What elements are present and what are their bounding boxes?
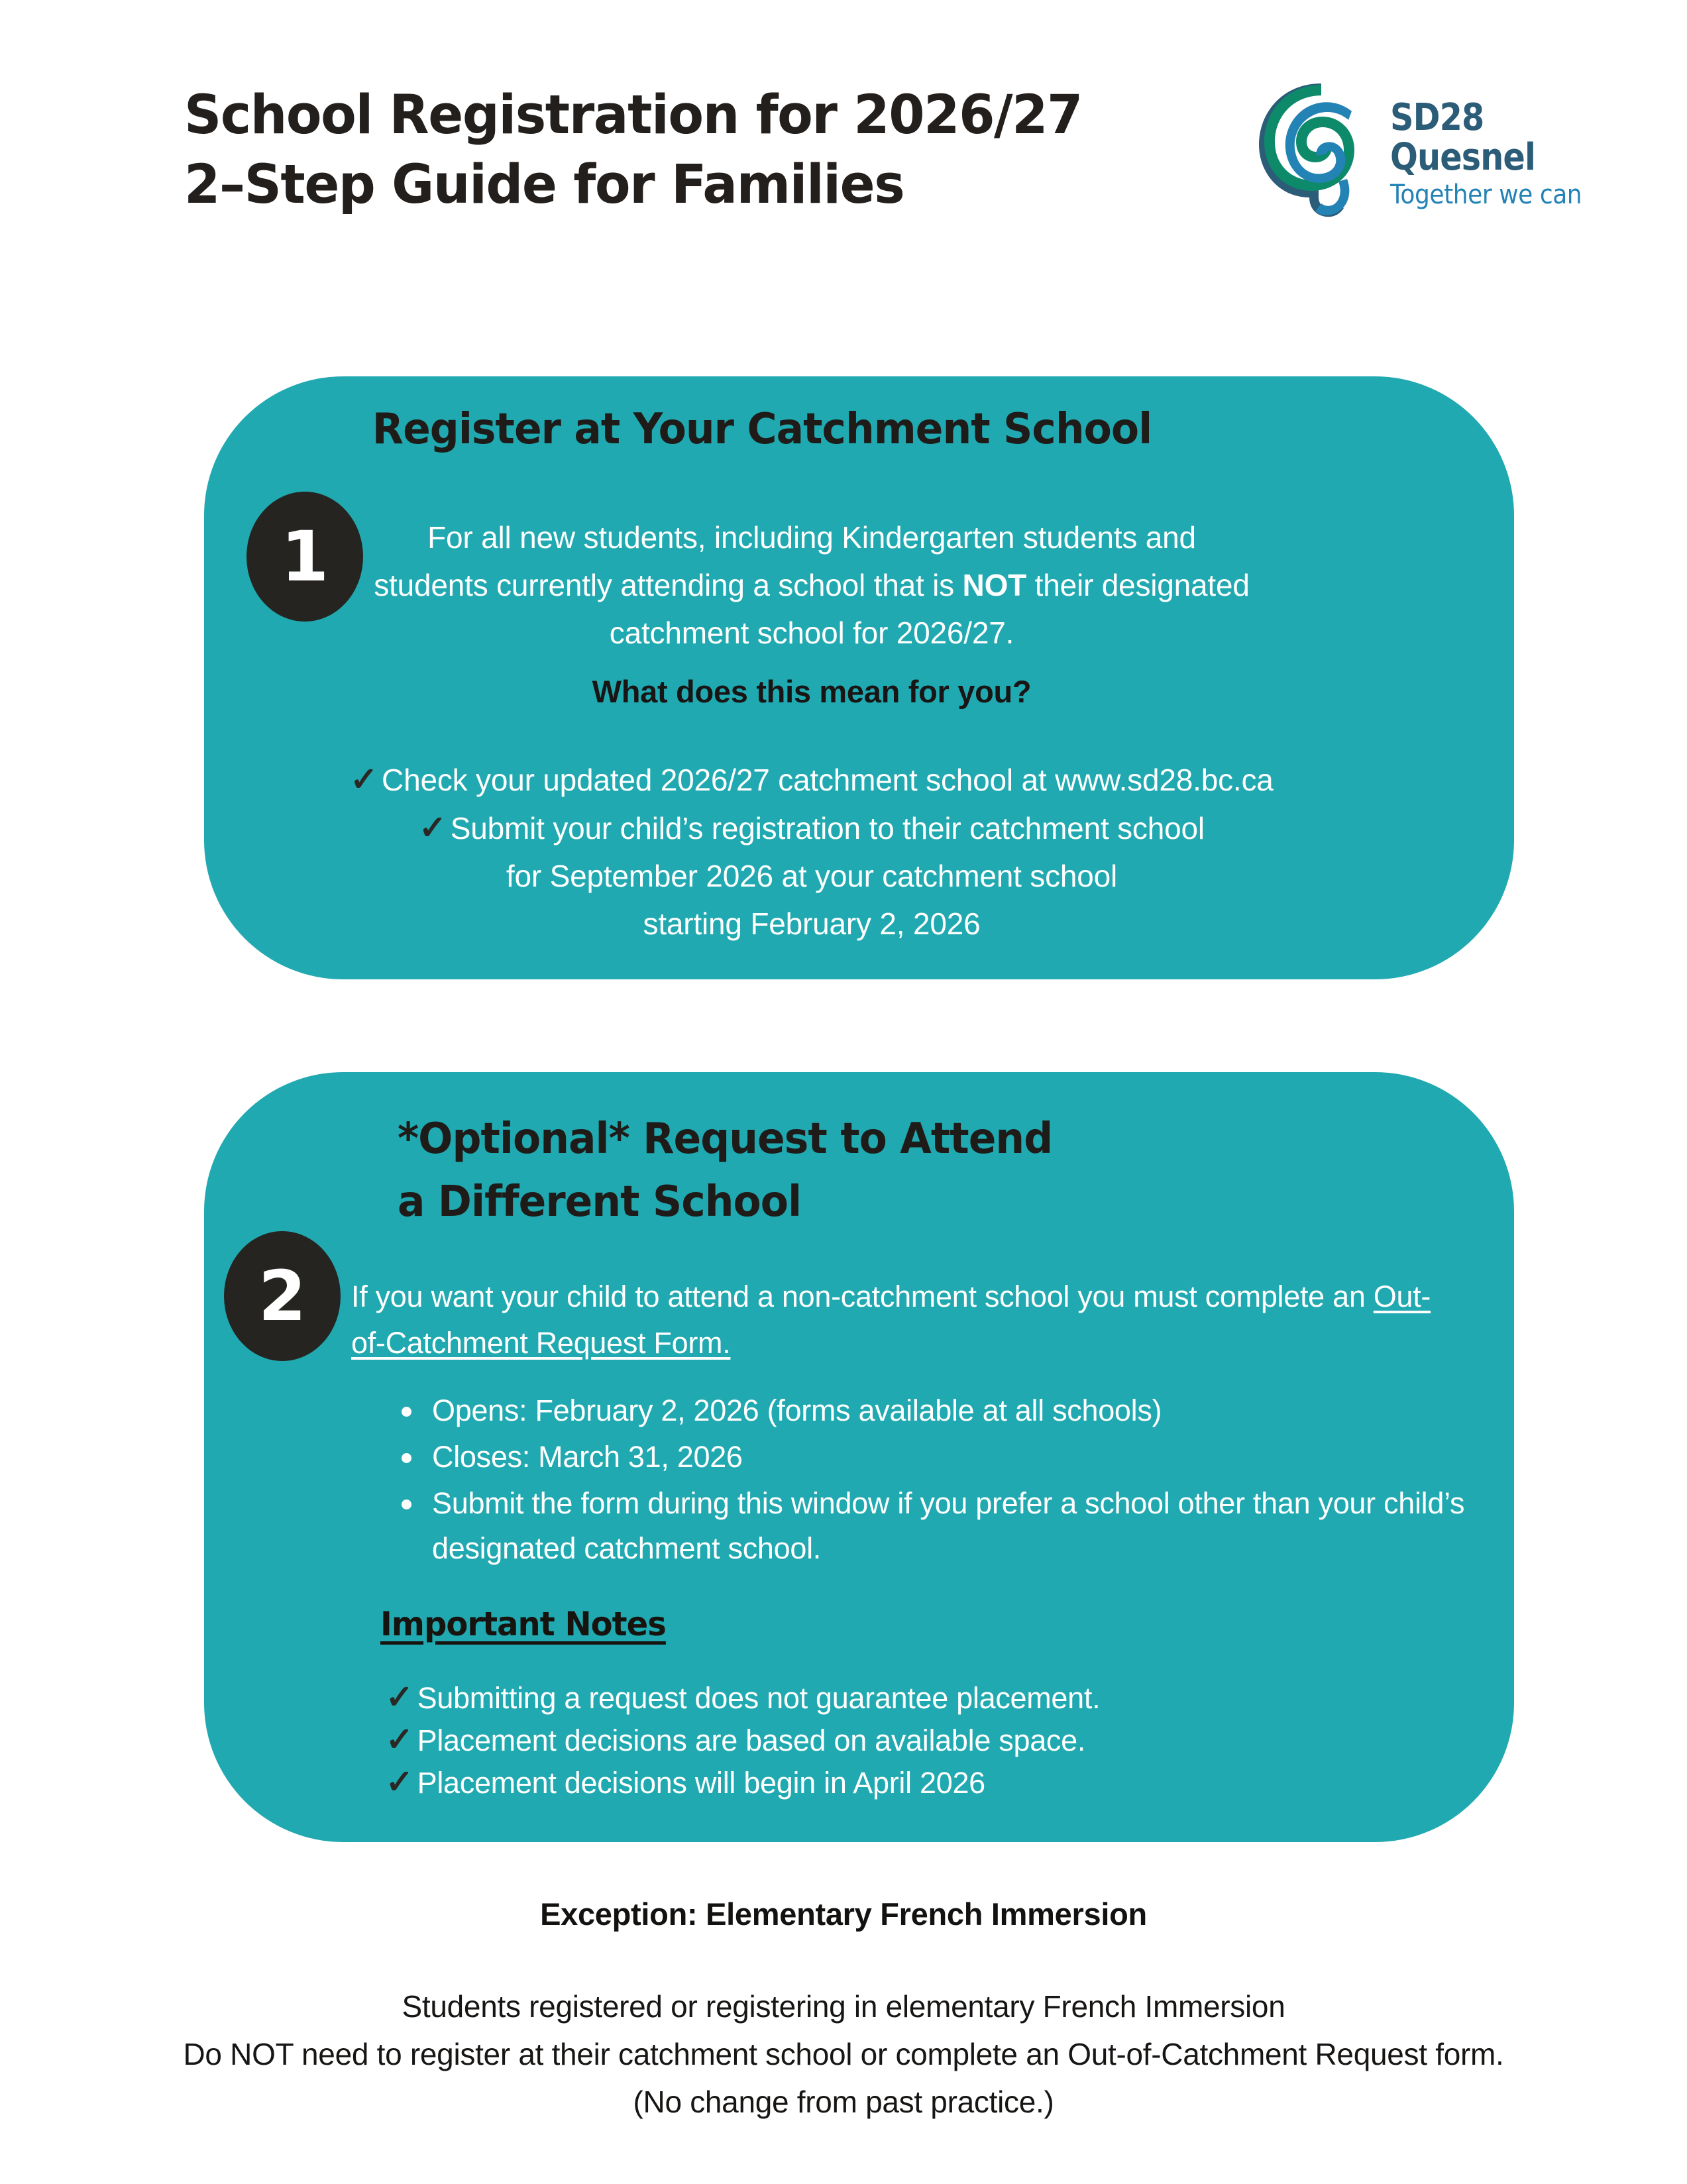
sd28-quesnel-logo: SD28 Quesnel Together we can [1252, 73, 1623, 225]
check-list-line: ✓Check your updated 2026/27 catchment sc… [272, 755, 1352, 804]
step-2-heading: *Optional* Request to Attend a Different… [398, 1108, 1288, 1234]
page-title: School Registration for 2026/27 2–Step G… [184, 81, 1144, 220]
footer-body-line: (No change from past practice.) [0, 2078, 1687, 2126]
step-1-question: What does this mean for you? [371, 673, 1252, 711]
note-item-text: Submitting a request does not guarantee … [417, 1681, 1101, 1715]
page-header: School Registration for 2026/27 2–Step G… [0, 0, 1687, 311]
important-notes-heading: Important Notes [380, 1604, 666, 1645]
note-item-text: Placement decisions will begin in April … [417, 1766, 985, 1800]
list-item: Submit the form during this window if yo… [402, 1481, 1488, 1571]
check-list-line-text: Submit your child’s registration to thei… [451, 811, 1205, 846]
logo-tagline: Together we can [1390, 180, 1599, 209]
step-2-bullet-list: Opens: February 2, 2026 (forms available… [362, 1388, 1488, 1572]
step-2-heading-line-1: *Optional* Request to Attend [398, 1108, 1288, 1171]
step-1-intro-emphasis: NOT [963, 568, 1027, 602]
footer-exception-title: Exception: Elementary French Immersion [0, 1895, 1687, 1934]
step-2-heading-line-2: a Different School [398, 1171, 1288, 1234]
step-1-heading: Register at Your Catchment School [266, 404, 1258, 455]
logo-name: SD28 Quesnel [1390, 98, 1594, 178]
list-item: Opens: February 2, 2026 (forms available… [402, 1388, 1488, 1433]
footer-body: Students registered or registering in el… [0, 1983, 1687, 2126]
footer-body-line: Do NOT need to register at their catchme… [0, 2030, 1687, 2078]
checkmark-icon: ✓ [386, 1719, 413, 1760]
step-1-check-list: ✓Check your updated 2026/27 catchment sc… [272, 755, 1352, 948]
checkmark-icon: ✓ [419, 804, 447, 851]
checkmark-icon: ✓ [350, 755, 378, 803]
step-1-number-badge: 1 [246, 492, 363, 622]
logo-wordmark: SD28 Quesnel Together we can [1390, 98, 1622, 209]
check-list-line: ✓Submit your child’s registration to the… [272, 804, 1352, 852]
checkmark-icon: ✓ [386, 1676, 413, 1718]
spiral-logo-icon [1252, 73, 1385, 222]
page-title-line-1: School Registration for 2026/27 [184, 81, 1144, 150]
check-list-line-text: for September 2026 at your catchment sch… [506, 859, 1117, 893]
important-notes-list: ✓Submitting a request does not guarantee… [386, 1676, 1446, 1804]
check-list-line-text: starting February 2, 2026 [643, 906, 981, 941]
check-list-line: for September 2026 at your catchment sch… [272, 852, 1352, 900]
step-2-number-badge: 2 [224, 1231, 341, 1361]
page-title-line-2: 2–Step Guide for Families [184, 150, 1144, 220]
note-item: ✓Placement decisions are based on availa… [386, 1719, 1446, 1761]
footer-body-line: Students registered or registering in el… [0, 1983, 1687, 2030]
note-item: ✓Placement decisions will begin in April… [386, 1761, 1446, 1804]
check-list-line: starting February 2, 2026 [272, 900, 1352, 948]
step-2-intro-text: If you want your child to attend a non-c… [351, 1280, 1374, 1313]
step-2-intro: If you want your child to attend a non-c… [351, 1274, 1451, 1366]
check-list-line-text: Check your updated 2026/27 catchment sch… [382, 763, 1274, 797]
step-1-intro: For all new students, including Kinderga… [371, 514, 1252, 657]
note-item-text: Placement decisions are based on availab… [417, 1723, 1085, 1757]
checkmark-icon: ✓ [386, 1761, 413, 1802]
note-item: ✓Submitting a request does not guarantee… [386, 1676, 1446, 1719]
list-item: Closes: March 31, 2026 [402, 1435, 1488, 1480]
